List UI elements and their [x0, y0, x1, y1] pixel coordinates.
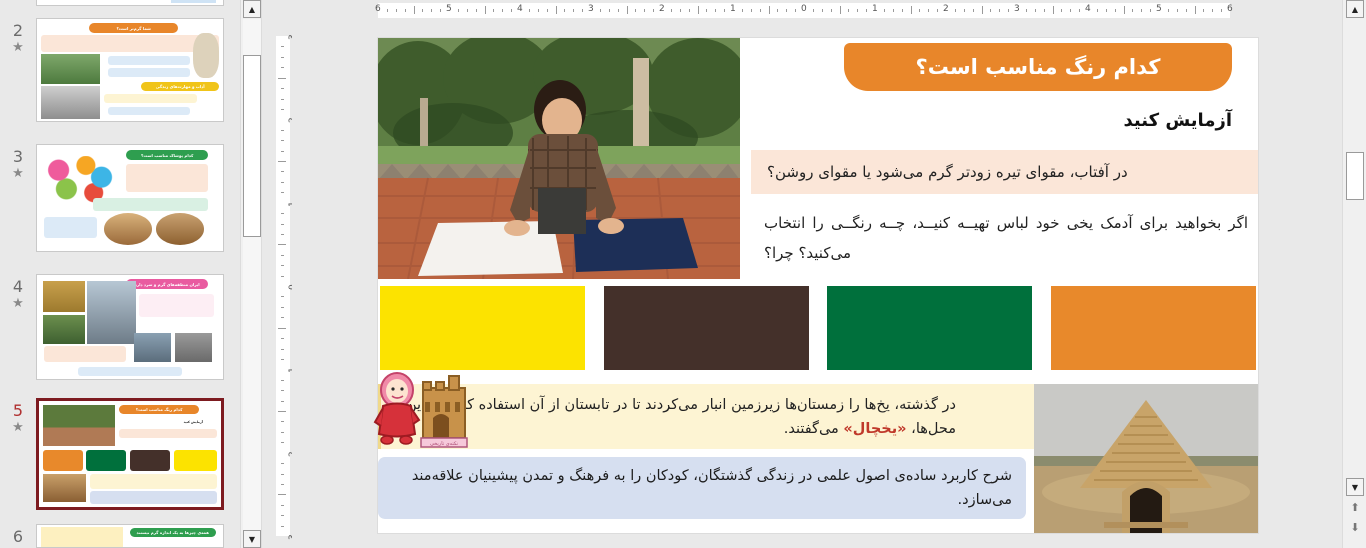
- ruler-tick: [278, 244, 286, 245]
- ruler-tick: [493, 9, 494, 12]
- list-item[interactable]: 3 ★ کدام پوشاک مناسب است؟: [0, 144, 238, 252]
- mini-image: [43, 315, 86, 344]
- slide-thumbnail-2[interactable]: شما گرم‌تر است؟ آداب و مهارت‌های زندگی: [36, 18, 224, 122]
- slide-thumbnail-5[interactable]: کدام رنگ مناسب است؟ آزمایش کنید: [36, 398, 224, 510]
- star-icon: ★: [0, 166, 36, 181]
- mini-title-band: کدام رنگ مناسب است؟: [119, 405, 199, 414]
- mini-slide: کدام پوشاک مناسب است؟: [37, 145, 223, 251]
- thumbnail-number-meta: 5 ★: [0, 398, 36, 435]
- slide-thumbnail-4[interactable]: ایران منطقه‌های گرم و سرد دارد: [36, 274, 224, 380]
- mini-title-band: همه‌ی چیزها به یک اندازه گرم نیستند: [130, 528, 216, 537]
- ruler-tick: [1212, 9, 1213, 12]
- slide-thumbnail-3[interactable]: کدام پوشاک مناسب است؟: [36, 144, 224, 252]
- ruler-tick: [281, 359, 284, 360]
- thumbnail-number-meta: 4 ★: [0, 274, 36, 311]
- hero-photo[interactable]: [378, 38, 740, 279]
- ruler-tick: [281, 505, 284, 506]
- ruler-tick: [635, 9, 636, 12]
- ruler-tick: [706, 9, 707, 12]
- mini-title-band: ایران منطقه‌های گرم و سرد دارد: [126, 279, 208, 289]
- ruler-tick: [281, 151, 284, 152]
- mini-image: [43, 405, 116, 445]
- ruler-tick: [1070, 9, 1071, 12]
- mini-image: [41, 86, 101, 119]
- ruler-tick: [476, 9, 477, 12]
- teacher-note-box[interactable]: شرح کاربرد ساده‌ی اصول علمی در زندگی گذش…: [378, 457, 1026, 519]
- ruler-tick: [1177, 9, 1178, 12]
- yakhchal-photo-image: [1034, 384, 1258, 533]
- ruler-tick: [1044, 9, 1045, 12]
- ruler-label: 1: [730, 4, 736, 14]
- boy-on-cardboard-photo: [378, 38, 740, 279]
- vertical-ruler-scale: 3210123: [276, 36, 290, 536]
- ruler-tick: [281, 380, 284, 381]
- previous-slide-button[interactable]: ⬆: [1348, 500, 1362, 514]
- ruler-tick: [689, 9, 690, 12]
- mini-image: [171, 0, 216, 3]
- ruler-tick: [911, 6, 912, 14]
- ruler-tick: [281, 255, 284, 256]
- color-swatch-row: [378, 286, 1258, 378]
- question-body[interactable]: اگر بخواهید برای آدمک یخی خود لباس تهیــ…: [756, 208, 1248, 268]
- mini-bullet: [93, 198, 208, 211]
- ruler-tick: [831, 9, 832, 12]
- list-item[interactable]: [0, 0, 238, 6]
- ruler-tick: [281, 88, 284, 89]
- swatch-orange[interactable]: [1051, 286, 1256, 370]
- mini-swatch: [130, 450, 170, 471]
- ruler-tick: [405, 9, 406, 12]
- ruler-tick: [281, 265, 284, 266]
- ruler-label: 3: [1014, 4, 1020, 14]
- thumbnail-number-meta: 3 ★: [0, 144, 36, 181]
- ruler-tick: [281, 276, 284, 277]
- mini-bullet: [108, 107, 190, 115]
- star-icon: ★: [0, 296, 36, 311]
- mini-text-strip: [104, 94, 197, 102]
- ruler-tick: [840, 6, 841, 14]
- ruler-tick: [529, 9, 530, 12]
- ruler-tick: [281, 67, 284, 68]
- ruler-tick: [990, 9, 991, 12]
- ruler-tick: [653, 9, 654, 12]
- scroll-up-button[interactable]: ▲: [243, 0, 261, 18]
- mini-bullet: [44, 217, 96, 238]
- mini-swatch: [174, 450, 218, 471]
- canvas-scrollbar[interactable]: ▲ ▼ ⬆ ⬇: [1342, 0, 1366, 548]
- ruler-tick: [777, 9, 778, 12]
- slide-thumbnail-6[interactable]: همه‌ی چیزها به یک اندازه گرم نیستند: [36, 524, 224, 548]
- list-item[interactable]: 2 ★ شما گرم‌تر است؟ آداب و مهارت‌های زند…: [0, 18, 238, 122]
- ruler-tick: [281, 421, 284, 422]
- ruler-label: 1: [872, 4, 878, 14]
- ruler-tick: [573, 9, 574, 12]
- mini-image: [43, 281, 86, 312]
- ruler-tick: [278, 328, 286, 329]
- yakhchal-photo[interactable]: [1034, 384, 1258, 533]
- mini-title-band: شما گرم‌تر است؟: [89, 23, 178, 33]
- ruler-tick: [1203, 9, 1204, 12]
- ruler-tick: [813, 9, 814, 12]
- ruler-tick: [422, 9, 423, 12]
- thumbnail-number: 5: [13, 401, 23, 420]
- ruler-label: 2: [943, 4, 949, 14]
- ruler-label: 6: [1227, 4, 1233, 14]
- ruler-tick: [1026, 9, 1027, 12]
- ruler-tick: [396, 9, 397, 12]
- ruler-tick: [278, 78, 286, 79]
- ruler-tick: [281, 390, 284, 391]
- historical-fact-box[interactable]: در گذشته، یخ‌ها را زمستان‌ها زیرزمین انب…: [378, 384, 1034, 449]
- ruler-tick: [278, 494, 286, 495]
- ruler-tick: [671, 9, 672, 12]
- ruler-tick: [627, 6, 628, 14]
- scroll-down-button[interactable]: ▼: [1346, 478, 1364, 496]
- ruler-tick: [769, 6, 770, 14]
- mini-image: [156, 213, 204, 245]
- ruler-tick: [458, 9, 459, 12]
- ruler-tick: [644, 9, 645, 12]
- ruler-tick: [281, 338, 284, 339]
- thumbnail-number: 2: [13, 21, 23, 40]
- list-item[interactable]: 4 ★ ایران منطقه‌های گرم و سرد دارد: [0, 274, 238, 380]
- ruler-tick: [724, 9, 725, 12]
- ruler-tick: [281, 515, 284, 516]
- ruler-label: 5: [1156, 4, 1162, 14]
- mini-text-strip: [126, 164, 208, 192]
- star-icon: ★: [0, 420, 36, 435]
- ruler-tick: [786, 9, 787, 12]
- mini-image: [175, 333, 212, 362]
- badge-label-text: نکته‌ی تاریخی: [430, 441, 458, 447]
- mini-text-strip: [119, 429, 217, 439]
- ruler-label: 3: [588, 4, 594, 14]
- ruler-tick: [281, 224, 284, 225]
- fact-text-after: می‌گفتند.: [784, 421, 844, 437]
- ruler-label: 2: [659, 4, 665, 14]
- ruler-tick: [1186, 9, 1187, 12]
- ruler-tick: [281, 46, 284, 47]
- ruler-tick: [538, 9, 539, 12]
- thumbnail-number: 3: [13, 147, 23, 166]
- ruler-tick: [281, 171, 284, 172]
- ruler-tick: [742, 9, 743, 12]
- mini-image: [104, 213, 152, 245]
- ruler-tick: [547, 9, 548, 12]
- ruler-tick: [902, 9, 903, 12]
- ruler-tick: [1141, 9, 1142, 12]
- mini-title-band: کدام پوشاک مناسب است؟: [126, 150, 208, 160]
- ruler-tick: [556, 6, 557, 14]
- historical-note-badge[interactable]: نکته‌ی تاریخی: [373, 368, 469, 448]
- ruler-tick: [715, 9, 716, 12]
- ruler-tick: [600, 9, 601, 12]
- ruler-tick: [1115, 9, 1116, 12]
- scrollbar-thumb[interactable]: [243, 55, 261, 237]
- ruler-tick: [281, 99, 284, 100]
- slide-canvas-area[interactable]: کدام رنگ مناسب است؟ آزمایش کنید در آفتاب…: [292, 20, 1340, 548]
- ruler-tick: [857, 9, 858, 12]
- ruler-tick: [1053, 6, 1054, 14]
- ruler-tick: [1008, 9, 1009, 12]
- scroll-up-button[interactable]: ▲: [1346, 0, 1364, 18]
- ruler-tick: [281, 140, 284, 141]
- ruler-tick: [281, 130, 284, 131]
- ruler-label: 6: [375, 4, 381, 14]
- ruler-tick: [1035, 9, 1036, 12]
- ruler-tick: [281, 432, 284, 433]
- ruler-tick: [281, 526, 284, 527]
- ruler-tick: [822, 9, 823, 12]
- slide-thumbnail-1[interactable]: [36, 0, 224, 6]
- scroll-down-button[interactable]: ▼: [243, 530, 261, 548]
- ruler-tick: [281, 484, 284, 485]
- ruler-tick: [440, 9, 441, 12]
- swatch-dark-brown[interactable]: [604, 286, 809, 370]
- ruler-tick: [281, 213, 284, 214]
- mini-image: [41, 54, 101, 85]
- ruler-tick: [964, 9, 965, 12]
- ruler-tick: [848, 9, 849, 12]
- thumbnail-pane-scrollbar[interactable]: ▲ ▼: [240, 0, 262, 548]
- ruler-tick: [1124, 6, 1125, 14]
- ruler-tick: [281, 182, 284, 183]
- question-strip[interactable]: در آفتاب، مقوای تیره زودتر گرم می‌شود یا…: [751, 150, 1258, 194]
- mini-image: [43, 156, 121, 204]
- list-item[interactable]: 5 ★ کدام رنگ مناسب است؟ آزمایش کنید: [0, 398, 238, 510]
- ruler-tick: [511, 9, 512, 12]
- ruler-label: 4: [517, 4, 523, 14]
- mini-bullet: [78, 367, 182, 376]
- ruler-tick: [582, 9, 583, 12]
- ruler-tick: [795, 9, 796, 12]
- current-slide[interactable]: کدام رنگ مناسب است؟ آزمایش کنید در آفتاب…: [378, 38, 1258, 533]
- slide-thumbnail-pane[interactable]: 2 ★ شما گرم‌تر است؟ آداب و مهارت‌های زند…: [0, 0, 238, 548]
- slide-title[interactable]: کدام رنگ مناسب است؟: [844, 43, 1232, 91]
- ruler-tick: [1168, 9, 1169, 12]
- ruler-tick: [955, 9, 956, 12]
- ruler-tick: [281, 463, 284, 464]
- ruler-tick: [387, 9, 388, 12]
- ruler-tick: [281, 442, 284, 443]
- ruler-tick: [698, 6, 699, 14]
- next-slide-button[interactable]: ⬇: [1348, 520, 1362, 534]
- ruler-tick: [502, 9, 503, 12]
- ruler-tick: [751, 9, 752, 12]
- mini-image: [134, 333, 171, 362]
- mini-slide: شما گرم‌تر است؟ آداب و مهارت‌های زندگی: [37, 19, 223, 121]
- ruler-tick: [278, 161, 286, 162]
- vertical-ruler[interactable]: 3210123: [272, 20, 292, 548]
- thumbnail-number: 6: [13, 527, 23, 546]
- ruler-tick: [1097, 9, 1098, 12]
- ruler-label: 0: [801, 4, 807, 14]
- ruler-tick: [866, 9, 867, 12]
- ruler-tick: [1061, 9, 1062, 12]
- ruler-tick: [1106, 9, 1107, 12]
- mini-image: [43, 474, 87, 502]
- mini-swatch: [43, 450, 83, 471]
- ruler-tick: [618, 9, 619, 12]
- mini-swatch: [86, 450, 126, 471]
- scrollbar-thumb[interactable]: [1346, 152, 1364, 200]
- ruler-tick: [973, 9, 974, 12]
- ruler-label: 5: [446, 4, 452, 14]
- mini-snowman: [193, 33, 219, 78]
- fact-text: در گذشته، یخ‌ها را زمستان‌ها زیرزمین انب…: [391, 393, 956, 441]
- girl-and-castle-icon: نکته‌ی تاریخی: [373, 368, 469, 448]
- ruler-tick: [431, 9, 432, 12]
- swatch-yellow[interactable]: [380, 286, 585, 370]
- ruler-tick: [760, 9, 761, 12]
- ruler-tick: [1079, 9, 1080, 12]
- ruler-tick: [884, 9, 885, 12]
- ruler-tick: [281, 109, 284, 110]
- ruler-tick: [919, 9, 920, 12]
- ruler-tick: [281, 296, 284, 297]
- mini-bullet: [108, 56, 190, 65]
- mini-bullet: [108, 68, 190, 77]
- ruler-label: 4: [1085, 4, 1091, 14]
- mini-text-strip: [44, 346, 126, 363]
- mini-note-strip: [90, 491, 217, 504]
- mini-subtitle: آزمایش کنید: [123, 420, 203, 428]
- fact-highlight: «یخچال»: [843, 421, 906, 437]
- mini-image: [87, 281, 135, 343]
- ruler-tick: [609, 9, 610, 12]
- mini-text-strip: [139, 294, 213, 317]
- fact-area: در گذشته، یخ‌ها را زمستان‌ها زیرزمین انب…: [378, 384, 1258, 468]
- ruler-tick: [281, 307, 284, 308]
- ruler-tick: [1132, 9, 1133, 12]
- mini-fact-strip: [90, 474, 217, 489]
- ruler-tick: [1150, 9, 1151, 12]
- mini-slide: کدام رنگ مناسب است؟ آزمایش کنید: [39, 401, 221, 507]
- mini-image: [41, 527, 123, 547]
- ruler-tick: [278, 411, 286, 412]
- ruler-tick: [982, 6, 983, 14]
- swatch-green[interactable]: [827, 286, 1032, 370]
- mini-slide: [37, 0, 223, 5]
- ruler-tick: [937, 9, 938, 12]
- mini-slide: ایران منطقه‌های گرم و سرد دارد: [37, 275, 223, 379]
- thumbnail-number-meta: 6: [0, 524, 36, 546]
- ruler-tick: [893, 9, 894, 12]
- ruler-tick: [281, 57, 284, 58]
- ruler-tick: [467, 9, 468, 12]
- ruler-tick: [1221, 9, 1222, 12]
- ruler-tick: [680, 9, 681, 12]
- ruler-tick: [928, 9, 929, 12]
- horizontal-ruler[interactable]: 6543210123456: [272, 0, 1340, 20]
- ruler-tick: [485, 6, 486, 14]
- list-item[interactable]: 6 همه‌ی چیزها به یک اندازه گرم نیستند: [0, 524, 238, 548]
- star-icon: ★: [0, 40, 36, 55]
- mini-slide: همه‌ی چیزها به یک اندازه گرم نیستند: [37, 525, 223, 547]
- ruler-tick: [281, 234, 284, 235]
- horizontal-ruler-scale: 6543210123456: [378, 3, 1230, 18]
- ruler-tick: [281, 349, 284, 350]
- slide-subhead[interactable]: آزمایش کنید: [772, 110, 1232, 131]
- ruler-tick: [1195, 6, 1196, 14]
- ruler-tick: [281, 192, 284, 193]
- thumbnail-number: 4: [13, 277, 23, 296]
- presentation-editor-window: 2 ★ شما گرم‌تر است؟ آداب و مهارت‌های زند…: [0, 0, 1366, 548]
- ruler-tick: [281, 401, 284, 402]
- ruler-tick: [281, 317, 284, 318]
- ruler-tick: [281, 474, 284, 475]
- ruler-tick: [414, 6, 415, 14]
- thumbnail-number-meta: 2 ★: [0, 18, 36, 55]
- ruler-tick: [564, 9, 565, 12]
- mini-band-life-skills: آداب و مهارت‌های زندگی: [141, 82, 219, 91]
- ruler-tick: [999, 9, 1000, 12]
